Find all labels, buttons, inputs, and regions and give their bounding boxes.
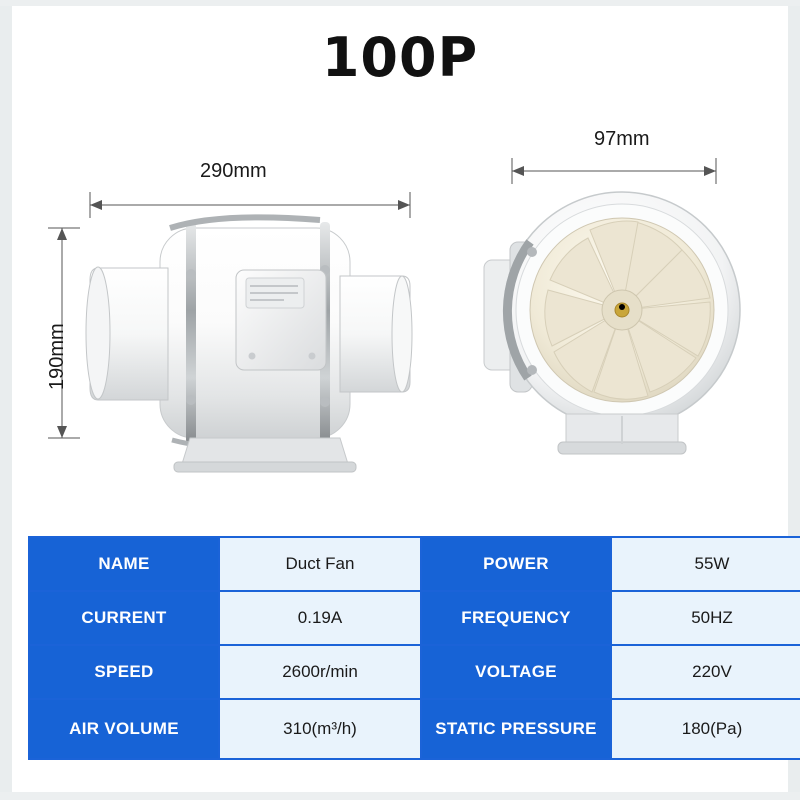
dimension-line-width-97 [512, 158, 716, 184]
dimension-line-width-290 [90, 192, 410, 218]
spec-label-voltage: VOLTAGE [421, 645, 611, 699]
dimension-label-width-97: 97mm [594, 128, 650, 151]
spec-value-voltage: 220V [611, 645, 800, 699]
fan-side-view-drawing [40, 150, 420, 480]
spec-label-air-volume: AIR VOLUME [29, 699, 219, 759]
spec-label-current: CURRENT [29, 591, 219, 645]
dimension-label-width-290: 290mm [200, 160, 267, 183]
spec-value-frequency: 50HZ [611, 591, 800, 645]
table-row: NAME Duct Fan POWER 55W [29, 537, 800, 591]
page-title: 100P [0, 26, 800, 89]
spec-value-static-pressure: 180(Pa) [611, 699, 800, 759]
spec-label-static-pressure: STATIC PRESSURE [421, 699, 611, 759]
table-row: AIR VOLUME 310(m³/h) STATIC PRESSURE 180… [29, 699, 800, 759]
spec-value-air-volume: 310(m³/h) [219, 699, 421, 759]
page-edge-left [0, 0, 12, 800]
product-spec-sheet: 100P [0, 0, 800, 800]
page-edge-bottom [0, 792, 800, 800]
spec-value-current: 0.19A [219, 591, 421, 645]
fan-front-view-figure: 97mm [470, 130, 770, 480]
spec-label-frequency: FREQUENCY [421, 591, 611, 645]
table-row: SPEED 2600r/min VOLTAGE 220V [29, 645, 800, 699]
spec-value-power: 55W [611, 537, 800, 591]
spec-label-power: POWER [421, 537, 611, 591]
fan-front-view-drawing [470, 130, 770, 480]
spec-label-speed: SPEED [29, 645, 219, 699]
spec-value-speed: 2600r/min [219, 645, 421, 699]
fan-side-view-figure: 290mm 190mm [40, 150, 420, 480]
page-edge-top [0, 0, 800, 6]
specification-table: NAME Duct Fan POWER 55W CURRENT 0.19A FR… [28, 536, 800, 760]
spec-value-name: Duct Fan [219, 537, 421, 591]
spec-label-name: NAME [29, 537, 219, 591]
dimension-label-height-190: 190mm [46, 323, 69, 390]
table-row: CURRENT 0.19A FREQUENCY 50HZ [29, 591, 800, 645]
